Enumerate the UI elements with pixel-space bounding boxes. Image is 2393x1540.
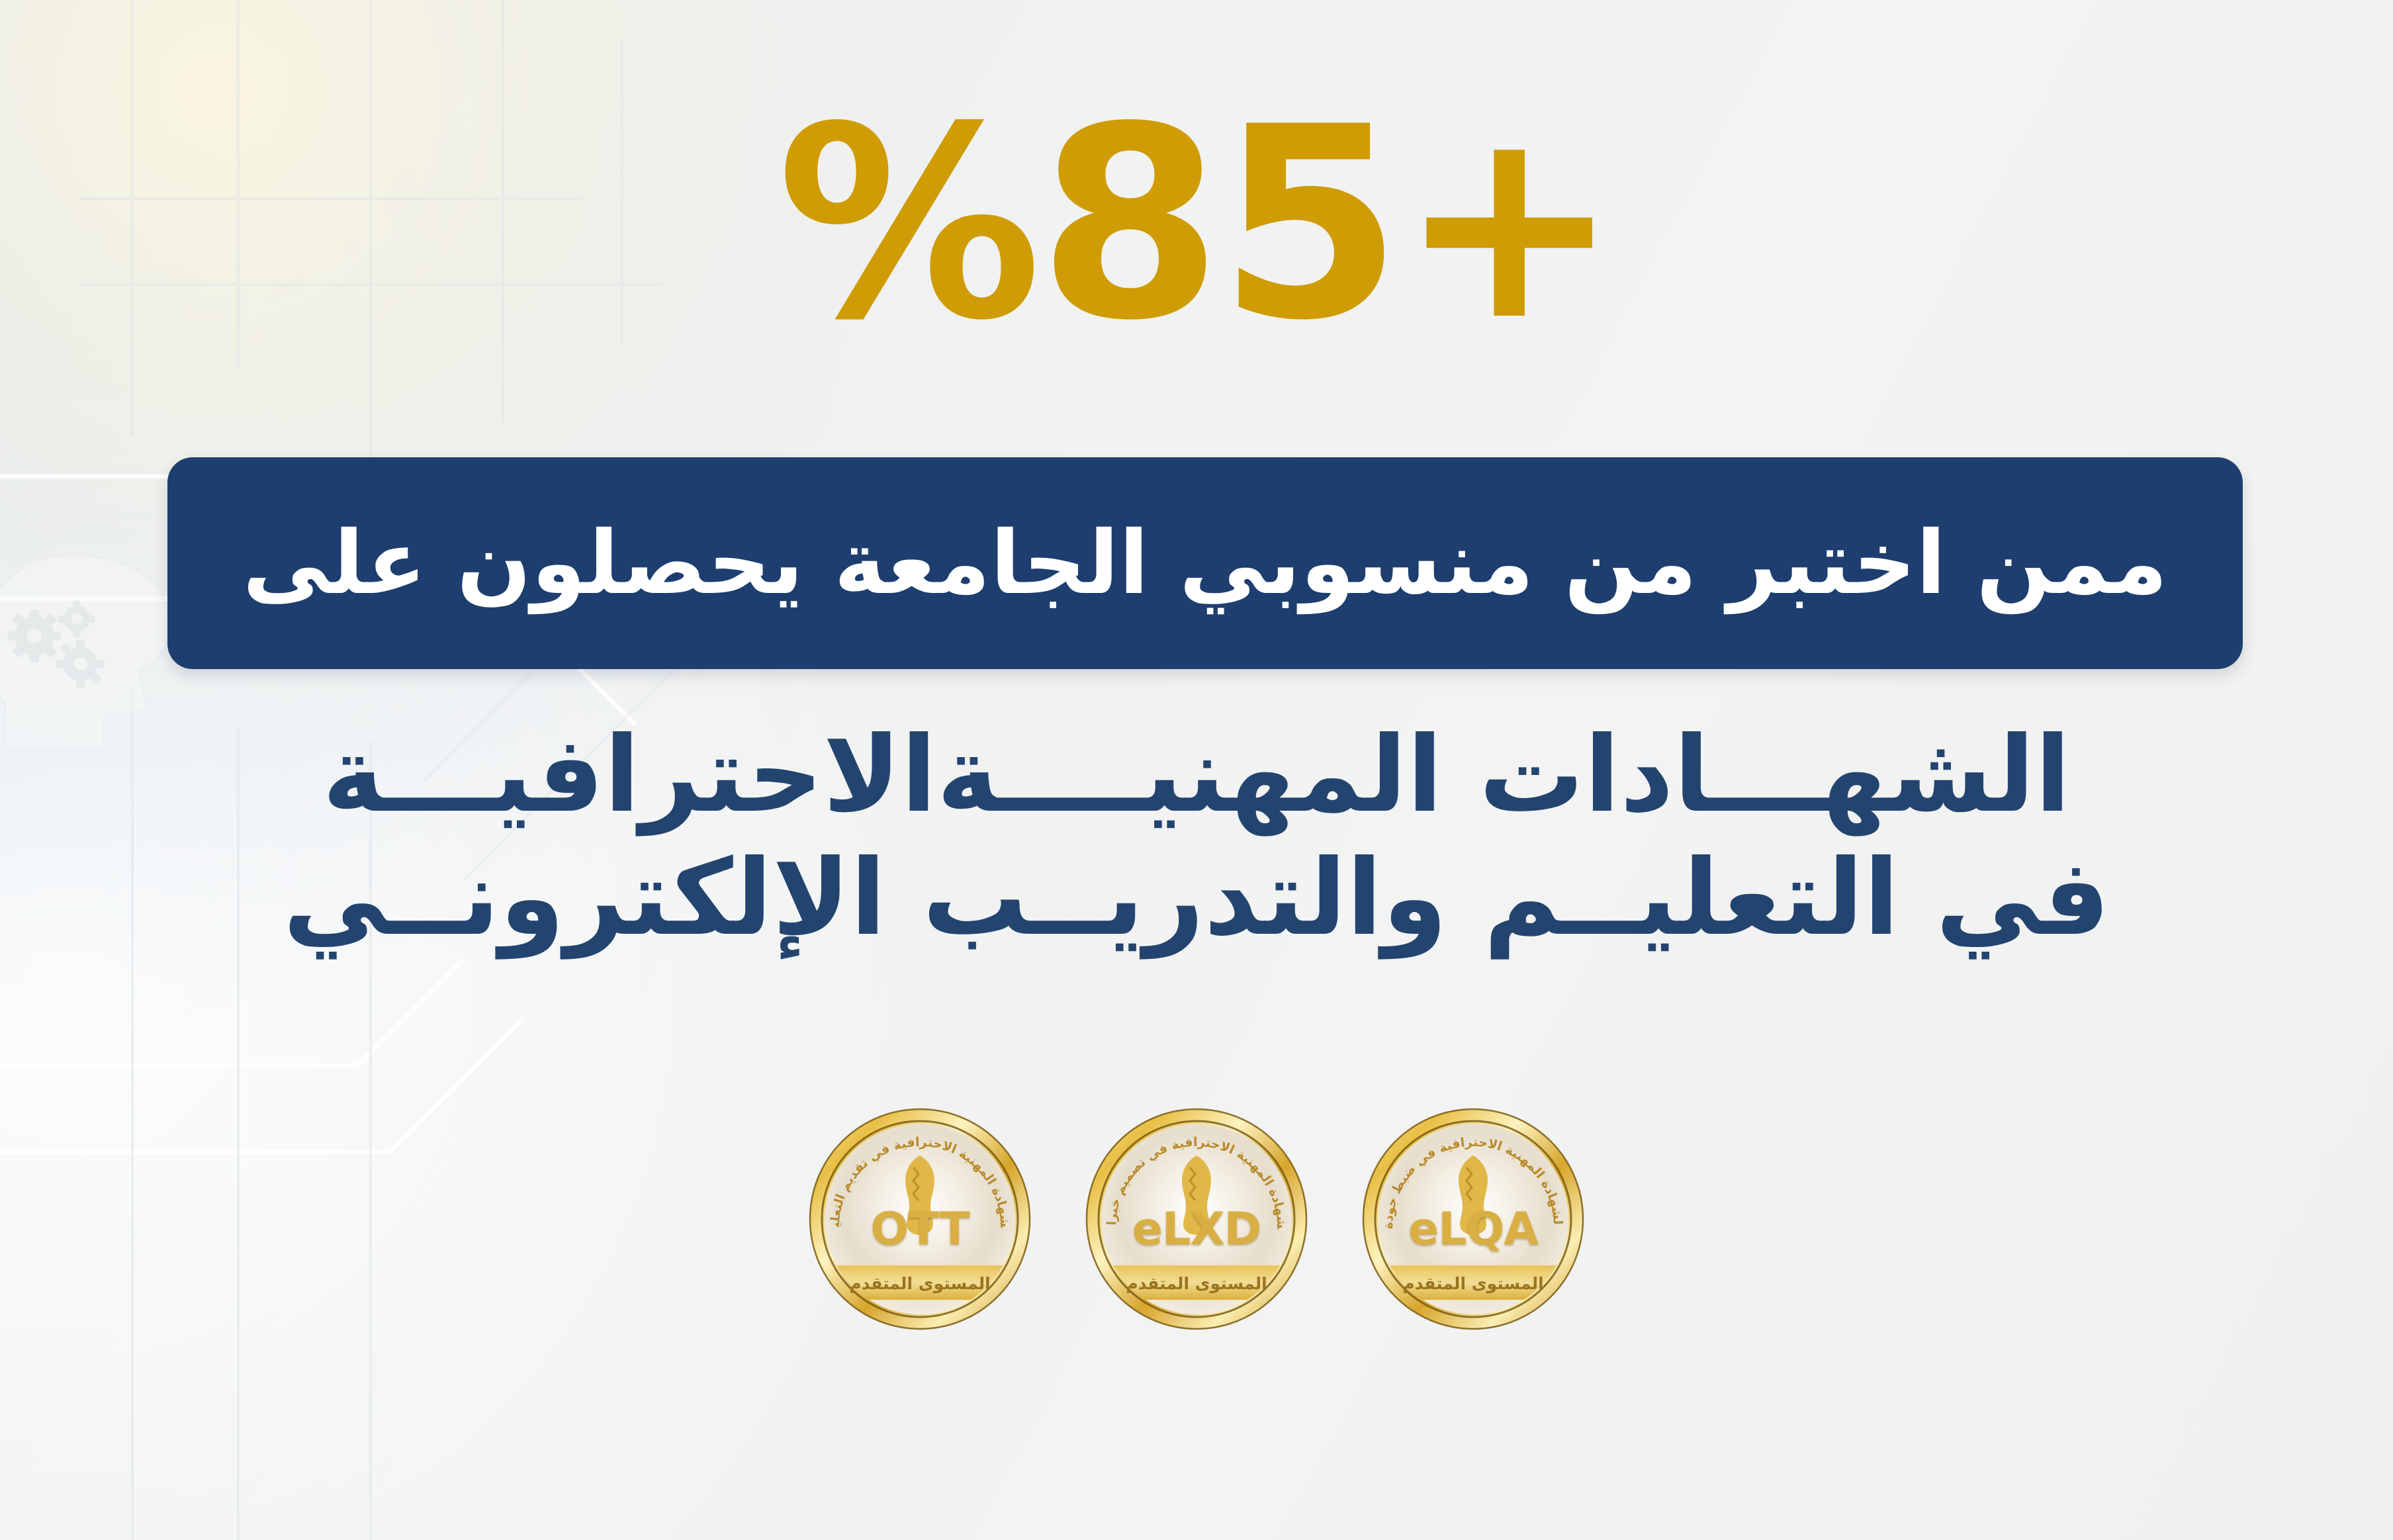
slide-canvas: %85+ ممن اختبر من منسوبي الجامعة يحصلون … — [0, 0, 2393, 1540]
headline-line-2: في التعليــم والتدريــب الإلكترونــي — [0, 837, 2393, 960]
page-title: الشهـــادات المهنيــــةالاحترافيـــة في … — [0, 713, 2393, 960]
statistic-block: %85+ — [0, 93, 2393, 357]
headline-line-1: الشهـــادات المهنيــــةالاحترافيـــة — [0, 713, 2393, 837]
medal-elqa[interactable]: الشهادة المهنية الاحترافية في ضبط جودة e… — [1361, 1107, 1586, 1332]
medal-ott[interactable]: الشهادة المهنية الاحترافية في تقديم التع… — [807, 1107, 1032, 1332]
certification-medals: الشهادة المهنية الاحترافية في ضبط جودة e… — [0, 1107, 2393, 1332]
statistic-value: %85+ — [777, 93, 1617, 357]
highlight-banner: ممن اختبر من منسوبي الجامعة يحصلون على — [167, 457, 2243, 669]
medal-elxd[interactable]: الشهادة المهنية الاحترافية في تصميم خبرا… — [1084, 1107, 1309, 1332]
highlight-banner-text: ممن اختبر من منسوبي الجامعة يحصلون على — [203, 518, 2208, 610]
